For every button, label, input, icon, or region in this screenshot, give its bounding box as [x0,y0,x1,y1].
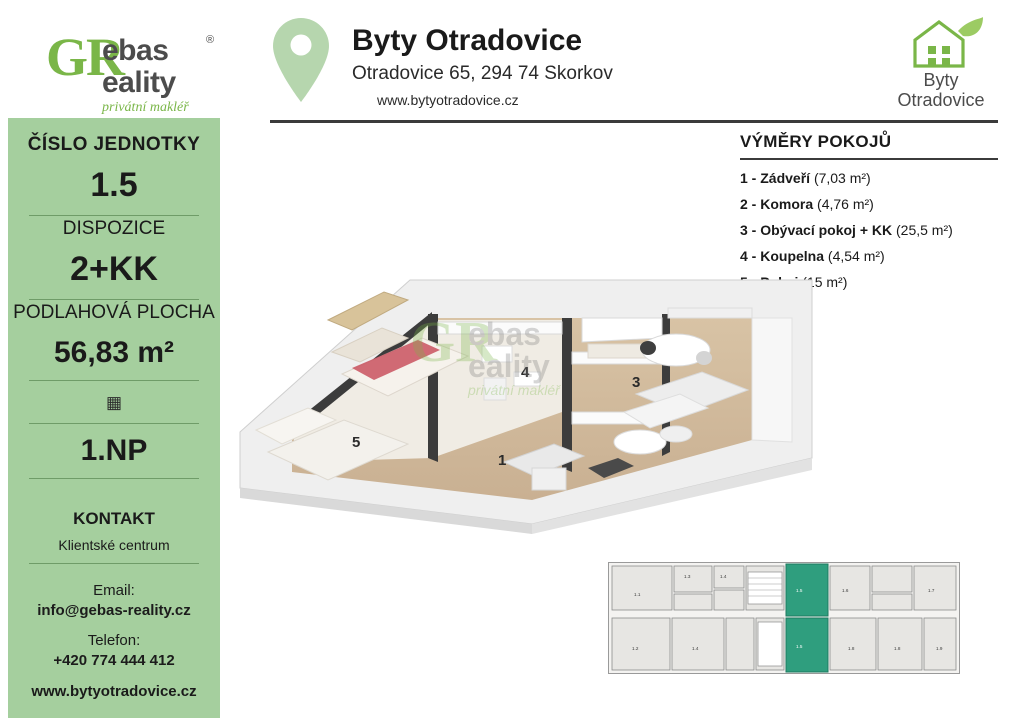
svg-text:1.4: 1.4 [720,574,727,579]
building-key-plan: 1.1 1.3 1.4 1.5 1.6 1.7 1.2 1.4 1.5 1.8 … [608,562,960,674]
unit-info-panel: ČÍSLO JEDNOTKY 1.5 DISPOZICE 2+KK PODLAH… [8,118,220,718]
phone-label: Telefon: [8,632,220,649]
panel-divider [29,423,199,424]
svg-text:1.8: 1.8 [894,646,901,651]
layout-value: 2+KK [8,250,220,289]
svg-text:1.7: 1.7 [928,588,935,593]
room-list-item: 3 - Obývací pokoj + KK (25,5 m²) [740,222,998,238]
layout-label: DISPOZICE [8,218,220,240]
gebas-reality-logo: GR ebas ® eality privátní makléř [40,22,220,114]
floor-value: 1.NP [8,434,220,468]
brand-line-2: Otradovice [876,90,1006,110]
panel-divider [29,563,199,564]
page-header: GR ebas ® eality privátní makléř Byty Ot… [0,0,1024,118]
svg-text:1.4: 1.4 [692,646,699,651]
svg-text:1.5: 1.5 [796,644,803,649]
house-leaf-icon [876,14,1006,70]
header-divider [270,120,998,123]
floor-area-label: PODLAHOVÁ PLOCHA [8,302,220,324]
unit-number-value: 1.5 [8,166,220,205]
logo-registered-mark: ® [206,34,214,46]
room-number: 1 - [740,170,760,186]
room-list-item: 2 - Komora (4,76 m²) [740,196,998,212]
elevator-icon: ▦ [8,393,220,413]
room-schedule-divider [740,158,998,160]
title-block: Byty Otradovice Otradovice 65, 294 74 Sk… [352,24,613,108]
page-website: www.bytyotradovice.cz [377,92,613,108]
room-area: (4,54 m²) [828,248,885,264]
page-address: Otradovice 65, 294 74 Skorkov [352,63,613,85]
floorplan-3d-render [232,262,832,538]
contact-label: KONTAKT [8,509,220,529]
svg-text:1.8: 1.8 [848,646,855,651]
email-label: Email: [8,582,220,599]
svg-text:1.3: 1.3 [684,574,691,579]
room-name: Komora [760,196,813,212]
room-label-4: 4 [521,364,529,381]
room-label-3: 3 [632,374,640,391]
room-area: (7,03 m²) [814,170,871,186]
svg-text:1.2: 1.2 [632,646,639,651]
panel-divider [29,380,199,381]
room-number: 3 - [740,222,760,238]
phone-value[interactable]: +420 774 444 412 [8,652,220,669]
logo-tagline: privátní makléř [102,100,189,116]
panel-divider [29,215,199,216]
room-label-5: 5 [352,434,360,451]
svg-text:1.9: 1.9 [936,646,943,651]
floor-area-value: 56,83 m² [8,336,220,370]
room-number: 2 - [740,196,760,212]
logo-name-line2: eality [102,66,176,100]
room-label-1: 1 [498,452,506,469]
panel-divider [29,299,199,300]
contact-name: Klientské centrum [8,537,220,553]
location-pin-icon [270,16,332,104]
room-area: (4,76 m²) [817,196,874,212]
brand-right: Byty Otradovice [876,14,1006,110]
svg-text:1.1: 1.1 [634,592,641,597]
panel-website[interactable]: www.bytyotradovice.cz [8,683,220,700]
svg-text:1.5: 1.5 [796,588,803,593]
logo-name-line1: ebas [102,34,168,68]
room-list-item: 1 - Zádveří (7,03 m²) [740,170,998,186]
email-value[interactable]: info@gebas-reality.cz [8,602,220,619]
unit-number-label: ČÍSLO JEDNOTKY [8,118,220,156]
page-title: Byty Otradovice [352,24,613,59]
svg-text:1.6: 1.6 [842,588,849,593]
room-area: (25,5 m²) [896,222,953,238]
room-name: Obývací pokoj + KK [760,222,892,238]
room-name: Zádveří [760,170,810,186]
panel-divider [29,478,199,479]
room-schedule-title: VÝMĚRY POKOJŮ [740,132,998,152]
